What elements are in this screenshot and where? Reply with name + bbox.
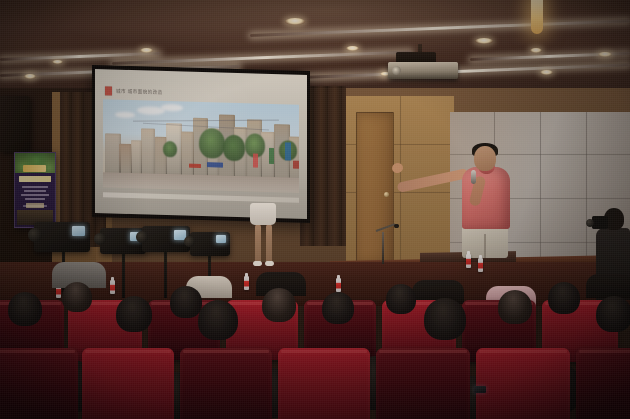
seat-highlight (85, 350, 171, 353)
auditorium-lecture-photo: 城市 城市面貌的改造 (0, 0, 630, 419)
audience-seat (0, 348, 78, 419)
audience-seat (576, 348, 630, 419)
audience-seat (180, 348, 272, 419)
audience-seat (278, 348, 370, 419)
audience-seat (82, 348, 174, 419)
seat-highlight (379, 350, 467, 353)
seat-highlight (479, 350, 567, 353)
seat-highlight (0, 350, 75, 353)
audience-phone-screen (474, 386, 486, 393)
seat-highlight (579, 350, 630, 353)
audience-seat (476, 348, 570, 419)
seat-highlight (183, 350, 269, 353)
seat-row-front (0, 0, 630, 419)
audience-seat (376, 348, 470, 419)
seat-highlight (281, 350, 367, 353)
